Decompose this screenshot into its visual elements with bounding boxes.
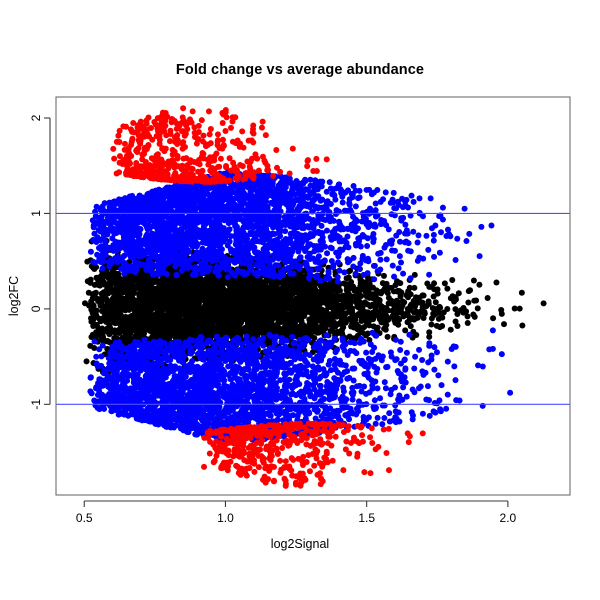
data-point [145,295,151,301]
data-point [326,311,332,317]
data-point [82,300,88,306]
data-point [267,333,273,339]
data-point [442,280,448,286]
data-point [445,392,451,398]
data-point [349,314,355,320]
data-point [104,287,110,293]
data-point [99,326,105,332]
data-point [223,321,229,327]
data-point [225,295,231,301]
data-point [118,324,124,330]
data-point [344,317,350,323]
data-point [204,300,210,306]
data-point [146,286,152,292]
data-point [485,295,491,301]
data-point [93,330,99,336]
data-point [338,319,344,325]
data-point [449,277,455,283]
data-point [519,290,525,296]
data-point [232,319,238,325]
ma-plot-figure: Fold change vs average abundance 0.51.01… [0,0,600,600]
data-point [381,273,387,279]
data-point [307,301,313,307]
data-point [402,327,408,333]
data-point [212,293,218,299]
data-point [358,277,364,283]
data-point [444,306,450,312]
data-point [146,314,152,320]
data-point [168,303,174,309]
data-point [109,287,115,293]
data-point [108,302,114,308]
data-point [220,299,226,305]
data-point [246,306,252,312]
data-point [176,278,182,284]
data-point [181,288,187,294]
data-point [137,331,143,337]
data-point [255,282,261,288]
data-point [425,247,431,253]
data-point [235,295,241,301]
data-point [454,236,460,242]
data-point [164,281,170,287]
data-point [356,293,362,299]
data-point [137,316,143,322]
data-point [405,310,411,316]
data-point [207,293,213,299]
data-point [149,281,155,287]
data-point [318,283,324,289]
data-point [195,323,201,329]
data-point [519,322,525,328]
data-point [332,300,338,306]
data-point [255,330,261,336]
data-point [147,307,153,313]
data-point [385,334,391,340]
data-point [154,286,160,292]
data-point [493,279,499,285]
data-point [197,281,203,287]
data-point [432,311,438,317]
data-point [235,284,241,290]
data-point [428,195,434,201]
data-point [454,311,460,317]
data-point [413,315,419,321]
data-point [162,329,168,335]
data-point [301,313,307,319]
data-point [270,285,276,291]
data-point [206,315,212,321]
data-point [498,307,504,313]
data-point [129,295,135,301]
data-point [467,287,473,293]
data-point [216,323,222,329]
data-point [98,353,104,359]
data-point [135,279,141,285]
data-point [436,316,442,322]
data-point [413,294,419,300]
data-point [346,275,352,281]
data-point [200,292,206,298]
data-point [377,395,383,401]
data-point [405,293,411,299]
data-point [170,312,176,318]
data-point [120,314,126,320]
data-point [356,324,362,330]
data-point [364,291,370,297]
data-point [174,293,180,299]
data-point [314,298,320,304]
data-point [119,301,125,307]
data-point [190,289,196,295]
data-point [291,316,297,322]
data-point [394,288,400,294]
data-point [127,314,133,320]
data-point [391,274,397,280]
data-point [244,289,250,295]
data-point [342,293,348,299]
data-point [298,288,304,294]
data-point [288,282,294,288]
data-point [187,327,193,333]
data-point [286,305,292,311]
data-point [164,318,170,324]
data-point [454,323,460,329]
data-point [101,315,107,321]
data-point [377,316,383,322]
data-point [221,313,227,319]
data-point [345,282,351,288]
data-point [435,372,441,378]
data-point [517,306,523,312]
data-point [392,320,398,326]
data-point [476,282,482,288]
data-point [116,296,122,302]
data-point [456,290,462,296]
data-point [129,328,135,334]
data-point [396,305,402,311]
data-point [91,291,97,297]
data-point [142,323,148,329]
data-point [319,321,325,327]
data-point [142,278,148,284]
data-point [428,321,434,327]
data-point [321,297,327,303]
data-point [289,322,295,328]
data-point [463,308,469,314]
data-point [334,314,340,320]
data-point [88,315,94,321]
data-point [314,330,320,336]
data-point [99,336,105,342]
data-point [157,303,163,309]
data-point [236,314,242,320]
data-point [424,280,430,286]
data-point [394,298,400,304]
data-point [88,277,94,283]
data-point [365,309,371,315]
data-point [349,305,355,311]
data-point [471,278,477,284]
data-point [242,316,248,322]
data-point [420,292,426,298]
data-point [247,299,253,305]
data-point [376,297,382,303]
data-point [99,308,105,314]
data-point [183,283,189,289]
data-point [160,298,166,304]
data-point [127,283,133,289]
data-point [84,358,90,364]
data-point [411,285,417,291]
data-point [338,302,344,308]
data-point [216,306,222,312]
data-point [541,300,547,306]
data-point [333,288,339,294]
data-point [128,290,134,296]
data-point [378,289,384,295]
data-point [381,415,387,421]
data-point [356,266,362,272]
data-point [91,303,97,309]
data-point [228,312,234,318]
data-point [121,278,127,284]
data-point [365,301,371,307]
data-point [315,316,321,322]
data-point [177,328,183,334]
data-point [95,277,101,283]
data-point [385,307,391,313]
data-point [434,306,440,312]
data-point [238,279,244,285]
data-point [98,300,104,306]
data-point [364,243,370,249]
data-point [202,285,208,291]
data-point [422,311,428,317]
data-point [501,321,507,327]
data-point [114,283,120,289]
data-point [114,273,120,279]
data-point [347,334,353,340]
data-point [448,327,454,333]
data-point [411,309,417,315]
data-point [294,296,300,302]
data-point [450,293,456,299]
data-point [465,313,471,319]
data-point [353,299,359,305]
plot-canvas: 0.51.01.52.0 210-1 log2Signal log2FC [0,0,600,600]
data-point [120,287,126,293]
data-point [272,294,278,300]
data-point [439,382,445,388]
data-point [359,308,365,314]
data-point [183,293,189,299]
data-point [277,311,283,317]
data-point [383,385,389,391]
data-point [92,282,98,288]
data-point [380,280,386,286]
data-point [281,283,287,289]
data-point [256,297,262,303]
data-point [475,305,481,311]
data-point [256,317,262,323]
data-point [348,323,354,329]
data-point [327,289,333,295]
data-point [247,321,253,327]
data-point [225,302,231,308]
data-point [127,301,133,307]
data-point [151,327,157,333]
data-point [101,279,107,285]
data-point [132,310,138,316]
data-point [108,311,114,317]
data-point [249,311,255,317]
data-point [221,286,227,292]
data-point [292,288,298,294]
data-point [284,298,290,304]
data-point [397,280,403,286]
data-point [383,322,389,328]
data-point [472,314,478,320]
data-point [426,329,432,335]
data-point [178,310,184,316]
data-point [292,329,298,335]
data-point [451,298,457,304]
data-point [433,299,439,305]
data-point [471,298,477,304]
data-point [262,318,268,324]
data-point [453,257,459,263]
data-point [294,309,300,315]
data-point [188,306,194,312]
data-point [396,409,402,415]
data-point [351,377,357,383]
data-point [141,309,147,315]
data-point [212,300,218,306]
data-point [329,322,335,328]
data-point [207,279,213,285]
data-point [360,330,366,336]
data-point [465,320,471,326]
data-point [351,294,357,300]
data-point [300,322,306,328]
data-point [174,287,180,293]
data-point [339,327,345,333]
data-point [366,322,372,328]
data-point [152,313,158,319]
data-point [437,324,443,330]
data-point [438,229,444,235]
data-point [465,300,471,306]
data-point [108,330,114,336]
data-point [426,301,432,307]
data-point [394,311,400,317]
data-point [107,280,113,286]
data-point [90,323,96,329]
data-point [208,330,214,336]
data-point [316,291,322,297]
data-point [105,338,111,344]
data-point [435,291,441,297]
scatter-points-layer [82,105,547,489]
data-point [270,309,276,315]
data-point [233,304,239,310]
data-point [198,306,204,312]
data-point [294,281,300,287]
data-point [151,300,157,306]
data-point [490,315,496,321]
data-point [166,335,172,341]
data-point [255,303,261,309]
data-point [444,286,450,292]
data-point [283,326,289,332]
data-point [152,321,158,327]
data-point [87,343,93,349]
data-point [226,283,232,289]
data-point [372,313,378,319]
data-point [111,319,117,325]
data-point [412,301,418,307]
data-point [370,291,376,297]
